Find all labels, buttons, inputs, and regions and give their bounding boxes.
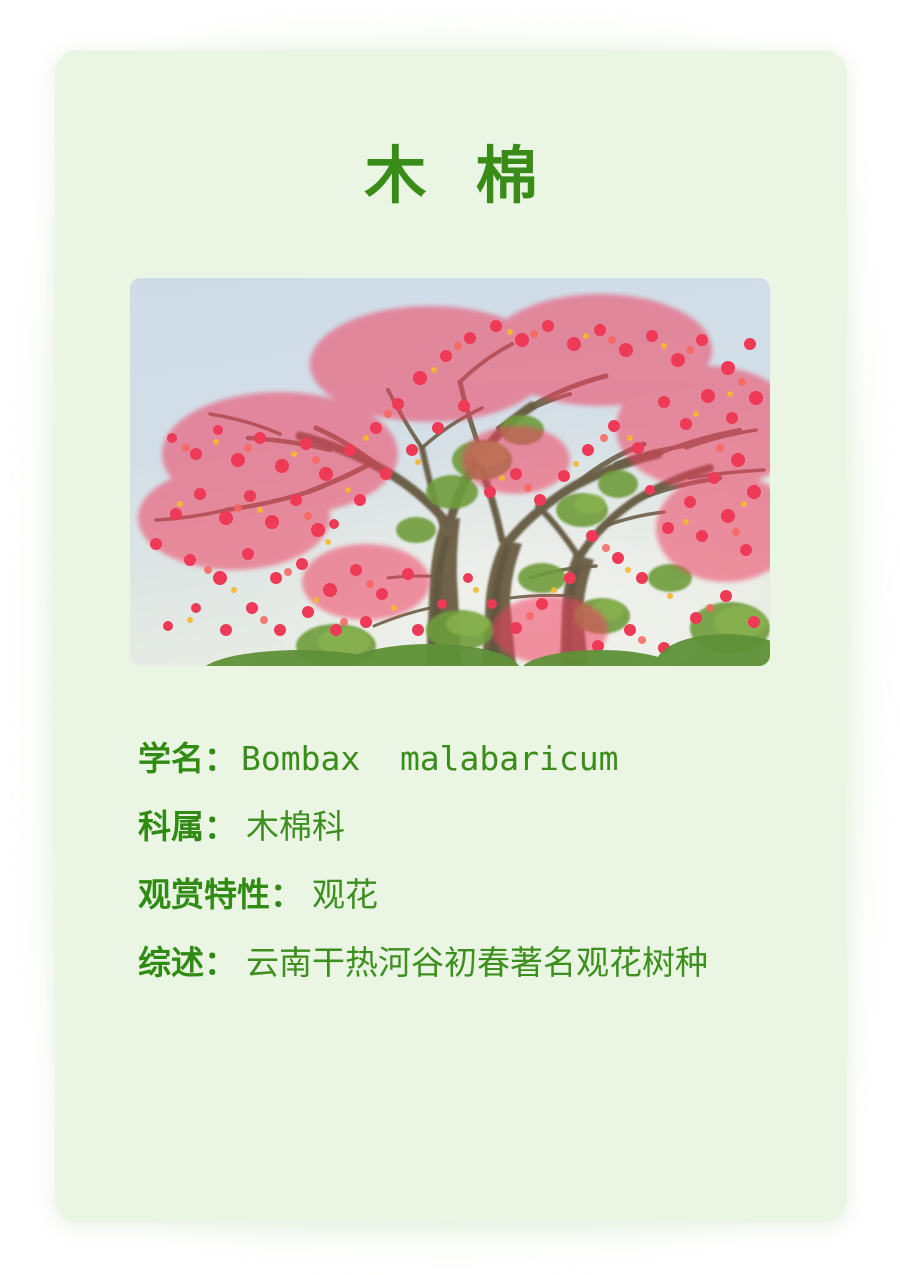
info-row-summary: 综述：云南干热河谷初春著名观花树种 <box>138 929 838 997</box>
info-value-summary: 云南干热河谷初春著名观花树种 <box>237 944 708 981</box>
info-value-family: 木棉科 <box>237 808 345 845</box>
info-label-scientific-name: 学名： <box>138 740 237 777</box>
kapok-tree-illustration <box>130 278 770 666</box>
info-value-ornamental-trait: 观花 <box>303 876 378 913</box>
page-title: 木 棉 <box>55 146 847 208</box>
kapok-tree-photo <box>130 278 770 666</box>
info-list: 学名：Bombax malabaricum 科属：木棉科 观赏特性：观花 综述：… <box>138 725 838 997</box>
info-row-family: 科属：木棉科 <box>138 793 838 861</box>
info-label-summary: 综述： <box>138 944 237 981</box>
info-row-ornamental-trait: 观赏特性：观花 <box>138 861 838 929</box>
plant-info-card: 木 棉 <box>55 50 847 1222</box>
info-label-family: 科属： <box>138 808 237 845</box>
info-row-scientific-name: 学名：Bombax malabaricum <box>138 725 838 793</box>
info-value-scientific-name: Bombax malabaricum <box>237 739 619 778</box>
info-label-ornamental-trait: 观赏特性： <box>138 876 303 913</box>
